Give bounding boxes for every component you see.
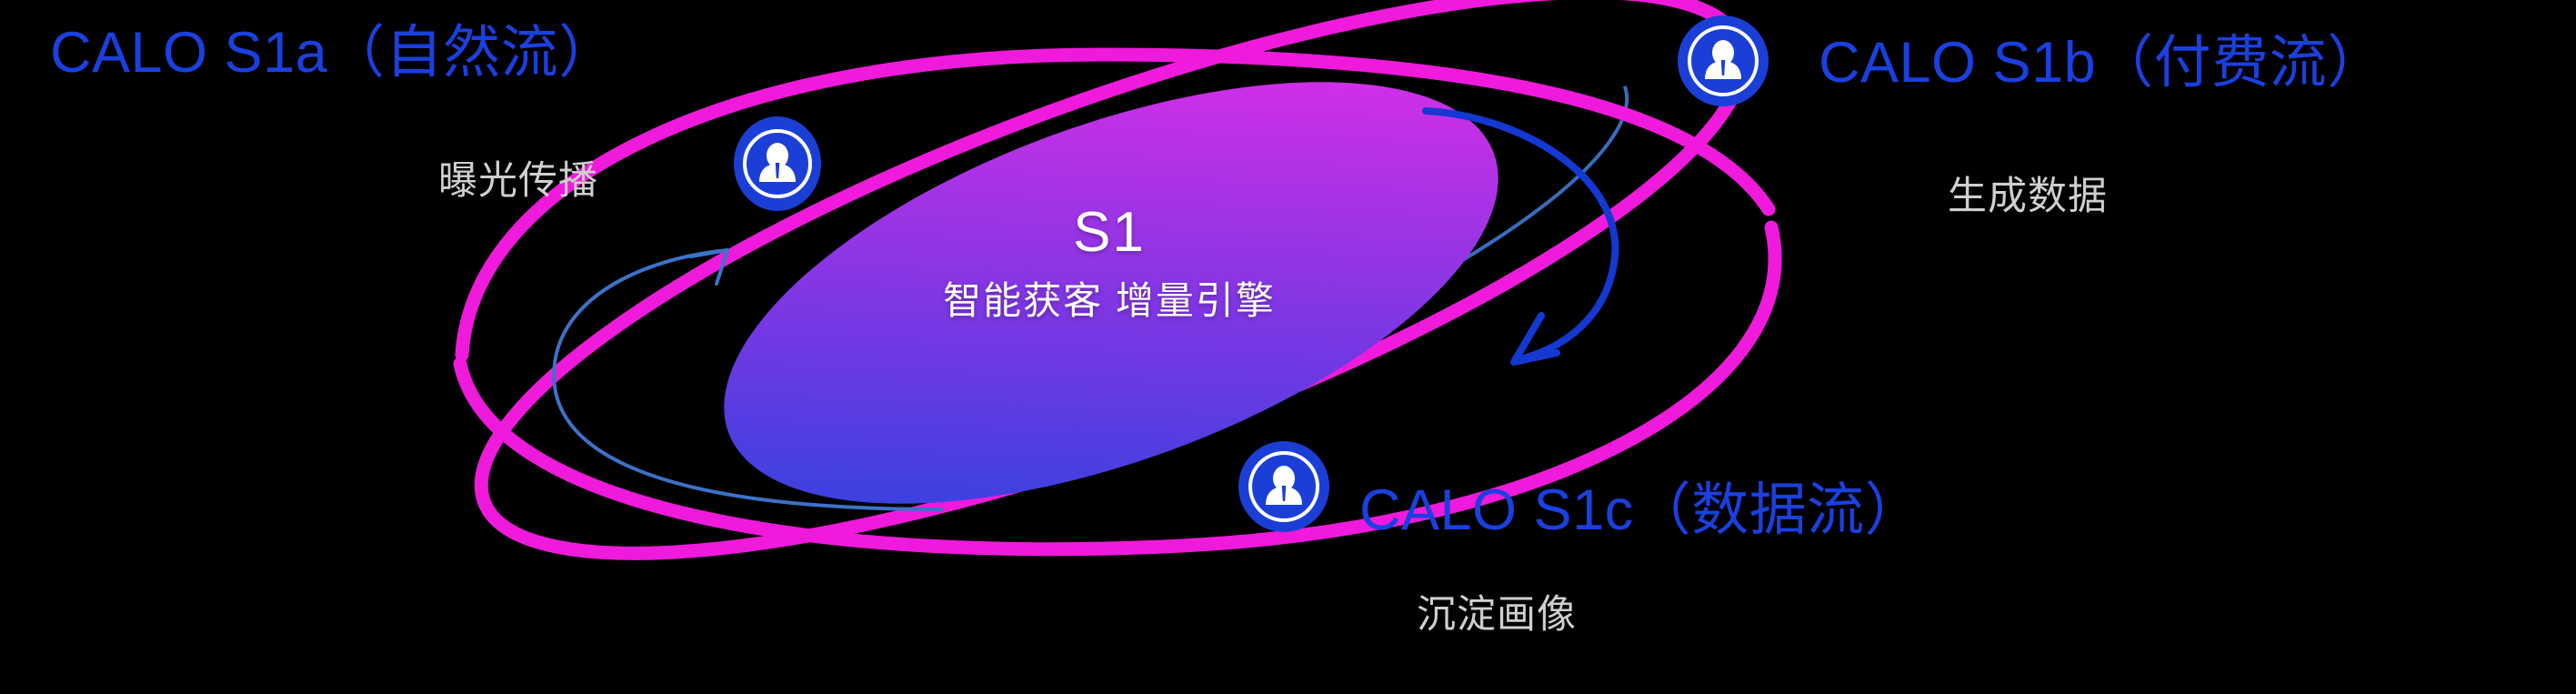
node-s1b-title[interactable]: CALO S1b（付费流） [1819,35,2385,92]
diagram-canvas: S1 智能获客 增量引擎 CALO S1a（自然流） 曝光传播 CALO S1b… [0,0,2576,694]
orbit-diagram-svg [0,0,2576,694]
core-title: S1 [959,205,1259,261]
node-s1a-title[interactable]: CALO S1a（自然流） [50,25,616,82]
node-s1c-caption: 沉淀画像 [1417,596,1577,635]
node-s1b-caption: 生成数据 [1948,177,2108,216]
node-s1a-caption: 曝光传播 [438,162,598,201]
node-s1a-avatar[interactable] [734,116,821,211]
node-s1c-title[interactable]: CALO S1c（数据流） [1359,482,1922,539]
node-s1c-avatar[interactable] [1238,441,1329,532]
core-subtitle: 智能获客 增量引擎 [818,282,1400,320]
node-s1b-avatar[interactable] [1678,15,1769,106]
